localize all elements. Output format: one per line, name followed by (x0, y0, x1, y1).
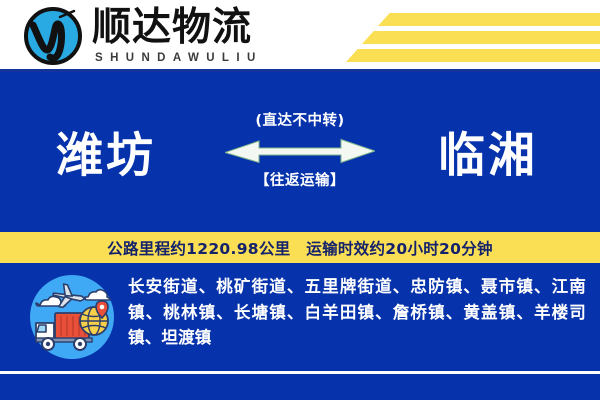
route-hero: 潍坊 (直达不中转) 【往返运输】 临湘 (0, 72, 600, 230)
banner-header: 顺达物流 SHUNDAWULIU (0, 0, 600, 72)
stripe-2 (362, 31, 600, 44)
coverage-area-list: 长安街道、桃矿街道、五里牌街道、忠防镇、聂市镇、江南镇、桃林镇、长塘镇、白羊田镇… (128, 274, 586, 351)
distance-duration-text: 公路里程约1220.98公里 运输时效约20小时20分钟 (107, 237, 493, 259)
brand-name-cn: 顺达物流 (92, 6, 263, 50)
route-middle: (直达不中转) 【往返运输】 (215, 112, 385, 190)
route-note-roundtrip: 【往返运输】 (215, 172, 385, 190)
double-headed-arrow-icon (225, 138, 375, 164)
swoosh-circle-logo-icon (22, 5, 84, 67)
stripe-1 (378, 13, 600, 26)
header-decorative-stripes (340, 0, 600, 72)
route-note-direct: (直达不中转) (215, 112, 385, 130)
logistics-truck-globe-icon (28, 273, 116, 361)
distance-duration-bar: 公路里程约1220.98公里 运输时效约20小时20分钟 (0, 232, 600, 263)
brand-text: 顺达物流 SHUNDAWULIU (92, 4, 263, 65)
origin-city: 潍坊 (56, 117, 156, 186)
footer-spacer (0, 374, 600, 400)
coverage-area-section: 长安街道、桃矿街道、五里牌街道、忠防镇、聂市镇、江南镇、桃林镇、长塘镇、白羊田镇… (0, 263, 600, 373)
brand-name-en: SHUNDAWULIU (92, 51, 263, 65)
stripe-3 (346, 49, 600, 62)
logistics-route-banner: 顺达物流 SHUNDAWULIU 潍坊 (直达不中转) 【往返运输】 临湘 公 (0, 0, 600, 400)
destination-city: 临湘 (438, 117, 538, 186)
brand-logo: 顺达物流 SHUNDAWULIU (22, 4, 263, 67)
